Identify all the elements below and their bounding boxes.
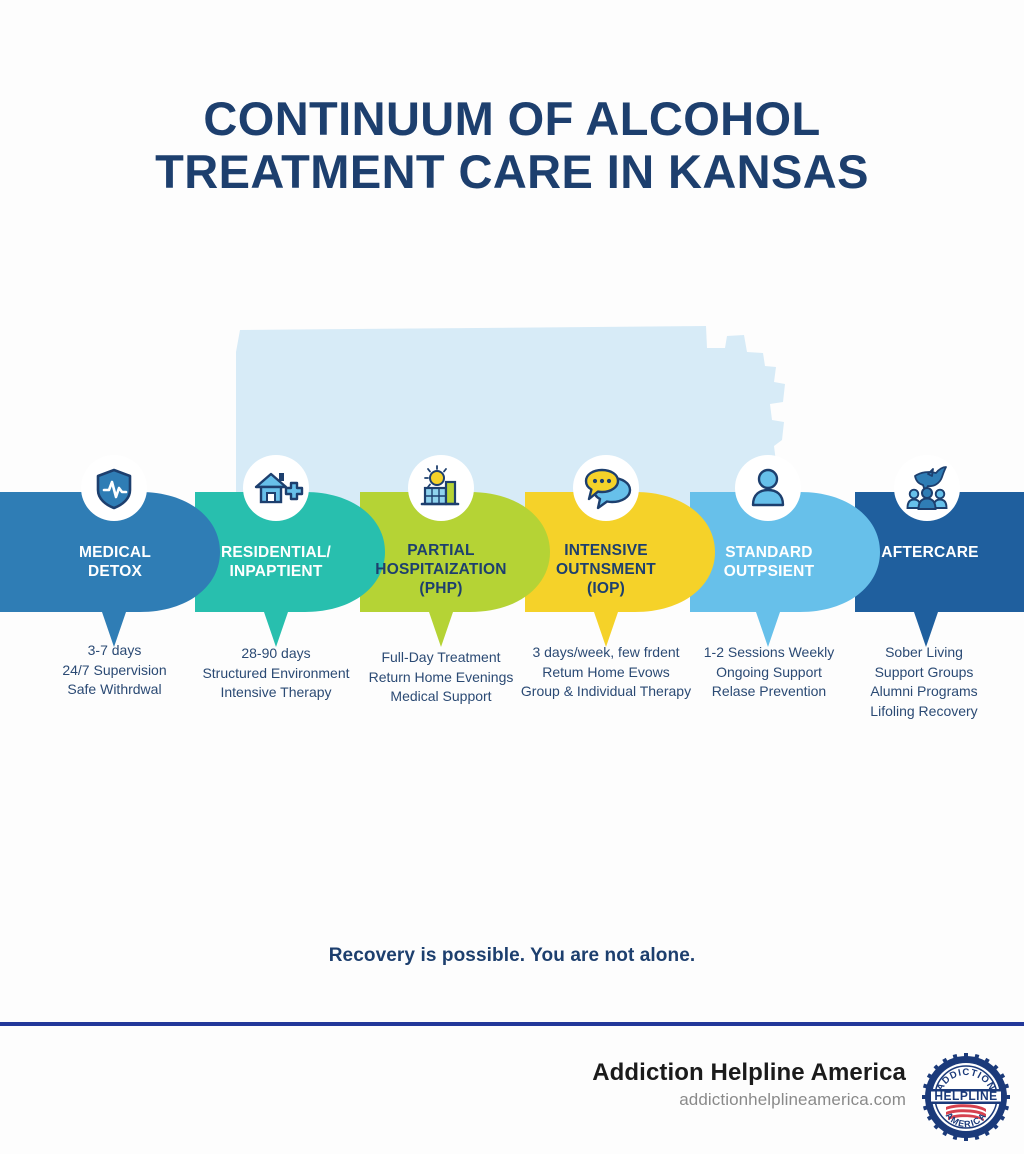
detail-line: Return Home Evenings bbox=[348, 668, 534, 688]
detail-line: 28-90 days bbox=[183, 644, 369, 664]
stage-label-line: INTENSIVE bbox=[526, 541, 686, 560]
footer-divider bbox=[0, 1022, 1024, 1026]
logo-center-text: HELPLINE bbox=[934, 1089, 997, 1103]
stage-label-line: OUTPSIENT bbox=[689, 562, 849, 581]
stage-label-line: MEDICAL bbox=[35, 543, 195, 562]
detail-line: Safe Withrdwal bbox=[22, 680, 207, 700]
stage-label-medical-detox: MEDICAL DETOX bbox=[35, 543, 195, 581]
detail-line: Intensive Therapy bbox=[183, 683, 369, 703]
title-line-1: CONTINUUM OF ALCOHOL bbox=[0, 92, 1024, 145]
detail-line: Full-Day Treatment bbox=[348, 648, 534, 668]
stage-details-partial-hospitalization: Full-Day Treatment Return Home Evenings … bbox=[348, 648, 534, 707]
detail-line: Medical Support bbox=[348, 687, 534, 707]
detail-line: Ongoing Support bbox=[676, 663, 862, 683]
detail-line: Lifoling Recovery bbox=[838, 702, 1010, 722]
stage-label-line: INPAPTIENT bbox=[196, 562, 356, 581]
sun-building-icon bbox=[413, 460, 469, 516]
stage-label-partial-hospitalization: PARTIAL HOSPITAIZATION (PHP) bbox=[361, 541, 521, 598]
tagline: Recovery is possible. You are not alone. bbox=[0, 945, 1024, 967]
detail-line: 1-2 Sessions Weekly bbox=[676, 643, 862, 663]
stage-details-residential-inpatient: 28-90 days Structured Environment Intens… bbox=[183, 644, 369, 703]
stage-label-aftercare: AFTERCARE bbox=[850, 543, 1010, 562]
footer-brand-name: Addiction Helpline America bbox=[592, 1059, 906, 1087]
stage-label-line: HOSPITAIZATION bbox=[361, 560, 521, 579]
footer-website-url[interactable]: addictionhelplineamerica.com bbox=[592, 1090, 906, 1110]
footer-text-block: Addiction Helpline America addictionhelp… bbox=[592, 1059, 906, 1110]
stage-label-line: (IOP) bbox=[526, 579, 686, 598]
detail-line: Alumni Programs bbox=[838, 682, 1010, 702]
stage-label-standard-outpatient: STANDARD OUTPSIENT bbox=[689, 543, 849, 581]
stage-label-line: OUTNSMENT bbox=[526, 560, 686, 579]
dove-group-icon bbox=[899, 460, 955, 516]
person-icon bbox=[740, 460, 796, 516]
detail-line: Support Groups bbox=[838, 663, 1010, 683]
stage-details-medical-detox: 3-7 days 24/7 Supervision Safe Withrdwal bbox=[22, 641, 207, 700]
stage-label-line: RESIDENTIAL/ bbox=[196, 543, 356, 562]
stage-label-residential-inpatient: RESIDENTIAL/ INPAPTIENT bbox=[196, 543, 356, 581]
shield-heartbeat-icon bbox=[86, 460, 142, 516]
stage-details-intensive-outpatient: 3 days/week, few frdent Retum Home Evows… bbox=[512, 643, 700, 702]
addiction-helpline-america-logo-icon: ADDICTION HELPLINE AMERICA bbox=[920, 1051, 1012, 1143]
detail-line: Sober Living bbox=[838, 643, 1010, 663]
page-title: CONTINUUM OF ALCOHOL TREATMENT CARE IN K… bbox=[0, 92, 1024, 198]
stage-label-line: (PHP) bbox=[361, 579, 521, 598]
detail-line: Relase Prevention bbox=[676, 682, 862, 702]
detail-line: Retum Home Evows bbox=[512, 663, 700, 683]
stage-label-line: PARTIAL bbox=[361, 541, 521, 560]
house-plus-icon bbox=[248, 460, 304, 516]
stage-details-standard-outpatient: 1-2 Sessions Weekly Ongoing Support Rela… bbox=[676, 643, 862, 702]
speech-bubbles-icon bbox=[578, 460, 634, 516]
infographic-page: CONTINUUM OF ALCOHOL TREATMENT CARE IN K… bbox=[0, 0, 1024, 1154]
stage-label-line: STANDARD bbox=[689, 543, 849, 562]
stage-label-line: AFTERCARE bbox=[850, 543, 1010, 562]
stage-label-line: DETOX bbox=[35, 562, 195, 581]
detail-line: Structured Environment bbox=[183, 664, 369, 684]
stage-details-aftercare: Sober Living Support Groups Alumni Progr… bbox=[838, 643, 1010, 721]
detail-line: Group & Individual Therapy bbox=[512, 682, 700, 702]
detail-line: 3-7 days bbox=[22, 641, 207, 661]
footer: Addiction Helpline America addictionhelp… bbox=[0, 1045, 1024, 1154]
detail-line: 24/7 Supervision bbox=[22, 661, 207, 681]
title-line-2: TREATMENT CARE IN KANSAS bbox=[0, 145, 1024, 198]
detail-line: 3 days/week, few frdent bbox=[512, 643, 700, 663]
stage-label-intensive-outpatient: INTENSIVE OUTNSMENT (IOP) bbox=[526, 541, 686, 598]
